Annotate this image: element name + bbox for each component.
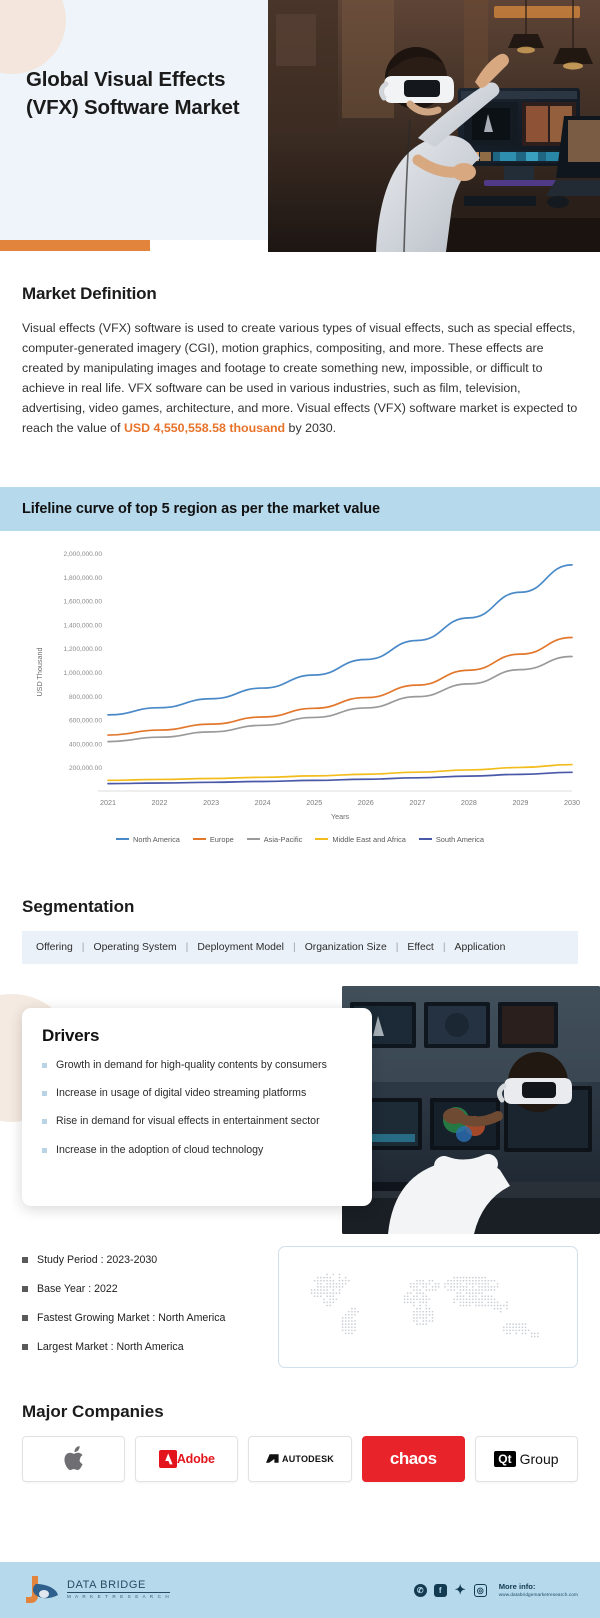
legend-item[interactable]: Middle East and Africa — [315, 835, 406, 844]
bullet-icon — [42, 1148, 47, 1153]
y-axis-tick-label: 200,000.00 — [69, 765, 102, 772]
lifeline-chart: 200,000.00400,000.00600,000.00800,000.00… — [0, 531, 600, 873]
x-axis-tick-label: 2023 — [203, 798, 219, 807]
study-info-item: Base Year : 2022 — [22, 1283, 292, 1295]
legend-item[interactable]: South America — [419, 835, 484, 844]
study-info-text: Largest Market : North America — [37, 1341, 184, 1353]
segmentation-item[interactable]: Offering — [36, 942, 73, 953]
segmentation-separator: | — [186, 942, 189, 953]
company-card-apple[interactable] — [22, 1436, 125, 1482]
accent-bar — [0, 240, 150, 251]
segmentation-separator: | — [443, 942, 446, 953]
facebook-icon[interactable]: f — [434, 1584, 447, 1597]
x-axis-tick-label: 2026 — [358, 798, 374, 807]
driver-text: Growth in demand for high-quality conten… — [56, 1058, 327, 1073]
legend-swatch — [247, 838, 260, 840]
segmentation-heading: Segmentation — [22, 897, 578, 917]
study-info-section: Study Period : 2023-2030Base Year : 2022… — [0, 1246, 600, 1376]
company-card-qt-group[interactable]: Qt Group — [475, 1436, 578, 1482]
autodesk-mark-icon — [266, 1453, 279, 1464]
footer-social-area: ✆ f ✦ ◎ More info: www.databridgemarketr… — [414, 1583, 578, 1597]
legend-item[interactable]: Asia-Pacific — [247, 835, 303, 844]
company-label-autodesk: AUTODESK — [282, 1454, 334, 1464]
vr-studio-illustration — [342, 986, 600, 1234]
bullet-icon — [42, 1119, 47, 1124]
legend-label: Middle East and Africa — [332, 835, 406, 844]
chart-banner: Lifeline curve of top 5 region as per th… — [0, 487, 600, 531]
bullet-icon — [22, 1286, 28, 1292]
x-axis-tick-label: 2029 — [512, 798, 528, 807]
apple-logo-icon — [63, 1446, 85, 1472]
y-axis-title: USD Thousand — [35, 647, 44, 696]
driver-text: Increase in usage of digital video strea… — [56, 1086, 306, 1101]
chart-series-line — [108, 764, 572, 780]
header-photo — [268, 0, 600, 252]
page-title: Global Visual Effects (VFX) Software Mar… — [26, 66, 262, 121]
study-info-item: Study Period : 2023-2030 — [22, 1254, 292, 1266]
footer-brand-subtitle: M A R K E T R E S E A R C H — [67, 1595, 170, 1600]
bullet-icon — [22, 1344, 28, 1350]
segmentation-separator: | — [82, 942, 85, 953]
y-axis-tick-label: 2,000,000.00 — [63, 551, 102, 558]
adobe-logo-icon — [159, 1450, 177, 1468]
study-info-text: Fastest Growing Market : North America — [37, 1312, 225, 1324]
legend-item[interactable]: North America — [116, 835, 180, 844]
driver-item: Rise in demand for visual effects in ent… — [42, 1114, 352, 1129]
more-info-block: More info: www.databridgemarketresearch.… — [499, 1583, 578, 1597]
more-info-title: More info: — [499, 1583, 578, 1592]
y-axis-tick-label: 1,400,000.00 — [63, 622, 102, 629]
market-definition-body: Visual effects (VFX) software is used to… — [22, 318, 578, 439]
y-axis-tick-label: 1,200,000.00 — [63, 646, 102, 653]
legend-label: Europe — [210, 835, 234, 844]
more-info-url[interactable]: www.databridgemarketresearch.com — [499, 1592, 578, 1597]
header: Global Visual Effects (VFX) Software Mar… — [0, 0, 600, 252]
x-axis-tick-label: 2021 — [100, 798, 116, 807]
segmentation-section: Segmentation — [0, 897, 600, 917]
driver-item: Growth in demand for high-quality conten… — [42, 1058, 352, 1073]
drivers-section: Drivers Growth in demand for high-qualit… — [0, 986, 600, 1236]
md-text-after: by 2030. — [285, 421, 336, 435]
segmentation-bar: Offering|Operating System|Deployment Mod… — [22, 931, 578, 964]
footer-brand-name: DATA BRIDGE — [67, 1580, 170, 1594]
data-bridge-logo-icon — [22, 1572, 60, 1608]
segmentation-item[interactable]: Effect — [407, 942, 433, 953]
major-companies-heading: Major Companies — [22, 1402, 578, 1422]
x-axis-tick-label: 2028 — [461, 798, 477, 807]
drivers-list: Growth in demand for high-quality conten… — [42, 1058, 352, 1158]
driver-text: Increase in the adoption of cloud techno… — [56, 1143, 263, 1158]
legend-swatch — [193, 838, 206, 840]
company-card-adobe[interactable]: Adobe — [135, 1436, 238, 1482]
bullet-icon — [42, 1063, 47, 1068]
study-info-text: Study Period : 2023-2030 — [37, 1254, 157, 1266]
segmentation-item[interactable]: Application — [455, 942, 506, 953]
footer-brand: DATA BRIDGE M A R K E T R E S E A R C H — [22, 1572, 170, 1608]
md-text-before: Visual effects (VFX) software is used to… — [22, 321, 577, 435]
x-axis-tick-label: 2025 — [306, 798, 322, 807]
qt-badge: Qt — [494, 1451, 515, 1467]
legend-label: North America — [133, 835, 180, 844]
footer: DATA BRIDGE M A R K E T R E S E A R C H … — [0, 1562, 600, 1618]
drivers-photo — [342, 986, 600, 1234]
instagram-icon[interactable]: ◎ — [474, 1584, 487, 1597]
x-axis-tick-label: 2027 — [409, 798, 425, 807]
driver-item: Increase in usage of digital video strea… — [42, 1086, 352, 1101]
chart-plot-area: 200,000.00400,000.00600,000.00800,000.00… — [16, 541, 584, 833]
x-axis-tick-label: 2022 — [152, 798, 168, 807]
chart-legend: North AmericaEuropeAsia-PacificMiddle Ea… — [16, 835, 584, 844]
chart-banner-title: Lifeline curve of top 5 region as per th… — [22, 501, 380, 517]
bullet-icon — [22, 1315, 28, 1321]
legend-item[interactable]: Europe — [193, 835, 234, 844]
legend-label: Asia-Pacific — [264, 835, 303, 844]
legend-swatch — [315, 838, 328, 840]
legend-swatch — [419, 838, 432, 840]
segmentation-item[interactable]: Operating System — [93, 942, 176, 953]
legend-label: South America — [436, 835, 484, 844]
company-label-qt-group: Group — [520, 1451, 559, 1467]
x-axis-tick-label: 2024 — [255, 798, 271, 807]
study-info-item: Largest Market : North America — [22, 1341, 292, 1353]
twitter-icon[interactable]: ✦ — [454, 1584, 467, 1597]
company-card-chaos[interactable]: chaos — [362, 1436, 465, 1482]
market-definition-section: Market Definition Visual effects (VFX) s… — [0, 284, 600, 439]
dotted-world-map-icon — [279, 1247, 578, 1368]
segmentation-separator: | — [293, 942, 296, 953]
vr-workstation-illustration — [268, 0, 600, 252]
drivers-heading: Drivers — [42, 1026, 352, 1046]
chart-series-line — [108, 564, 572, 714]
driver-text: Rise in demand for visual effects in ent… — [56, 1114, 320, 1129]
y-axis-tick-label: 800,000.00 — [69, 693, 102, 700]
y-axis-tick-label: 1,000,000.00 — [63, 670, 102, 677]
market-definition-heading: Market Definition — [22, 284, 578, 304]
chart-series-line — [108, 772, 572, 783]
legend-swatch — [116, 838, 129, 840]
drivers-card: Drivers Growth in demand for high-qualit… — [22, 1008, 372, 1206]
world-map-card — [278, 1246, 578, 1368]
study-info-list: Study Period : 2023-2030Base Year : 2022… — [22, 1246, 292, 1353]
y-axis-tick-label: 600,000.00 — [69, 717, 102, 724]
y-axis-tick-label: 1,800,000.00 — [63, 574, 102, 581]
footer-brand-text: DATA BRIDGE M A R K E T R E S E A R C H — [67, 1580, 170, 1600]
company-card-autodesk[interactable]: AUTODESK — [248, 1436, 351, 1482]
bullet-icon — [42, 1091, 47, 1096]
x-axis-title: Years — [331, 812, 350, 821]
md-value-highlight: USD 4,550,558.58 thousand — [124, 421, 285, 435]
segmentation-item[interactable]: Deployment Model — [197, 942, 284, 953]
study-info-text: Base Year : 2022 — [37, 1283, 118, 1295]
chart-series-line — [108, 637, 572, 735]
company-label-adobe: Adobe — [177, 1452, 215, 1466]
segmentation-separator: | — [396, 942, 399, 953]
company-logo-row: Adobe AUTODESK chaos Qt Group — [22, 1436, 578, 1482]
segmentation-item[interactable]: Organization Size — [305, 942, 387, 953]
bullet-icon — [22, 1257, 28, 1263]
major-companies-section: Major Companies — [0, 1402, 600, 1422]
driver-item: Increase in the adoption of cloud techno… — [42, 1143, 352, 1158]
x-axis-tick-label: 2030 — [564, 798, 580, 807]
whatsapp-icon[interactable]: ✆ — [414, 1584, 427, 1597]
study-info-item: Fastest Growing Market : North America — [22, 1312, 292, 1324]
y-axis-tick-label: 400,000.00 — [69, 741, 102, 748]
y-axis-tick-label: 1,600,000.00 — [63, 598, 102, 605]
company-label-chaos: chaos — [390, 1449, 437, 1469]
